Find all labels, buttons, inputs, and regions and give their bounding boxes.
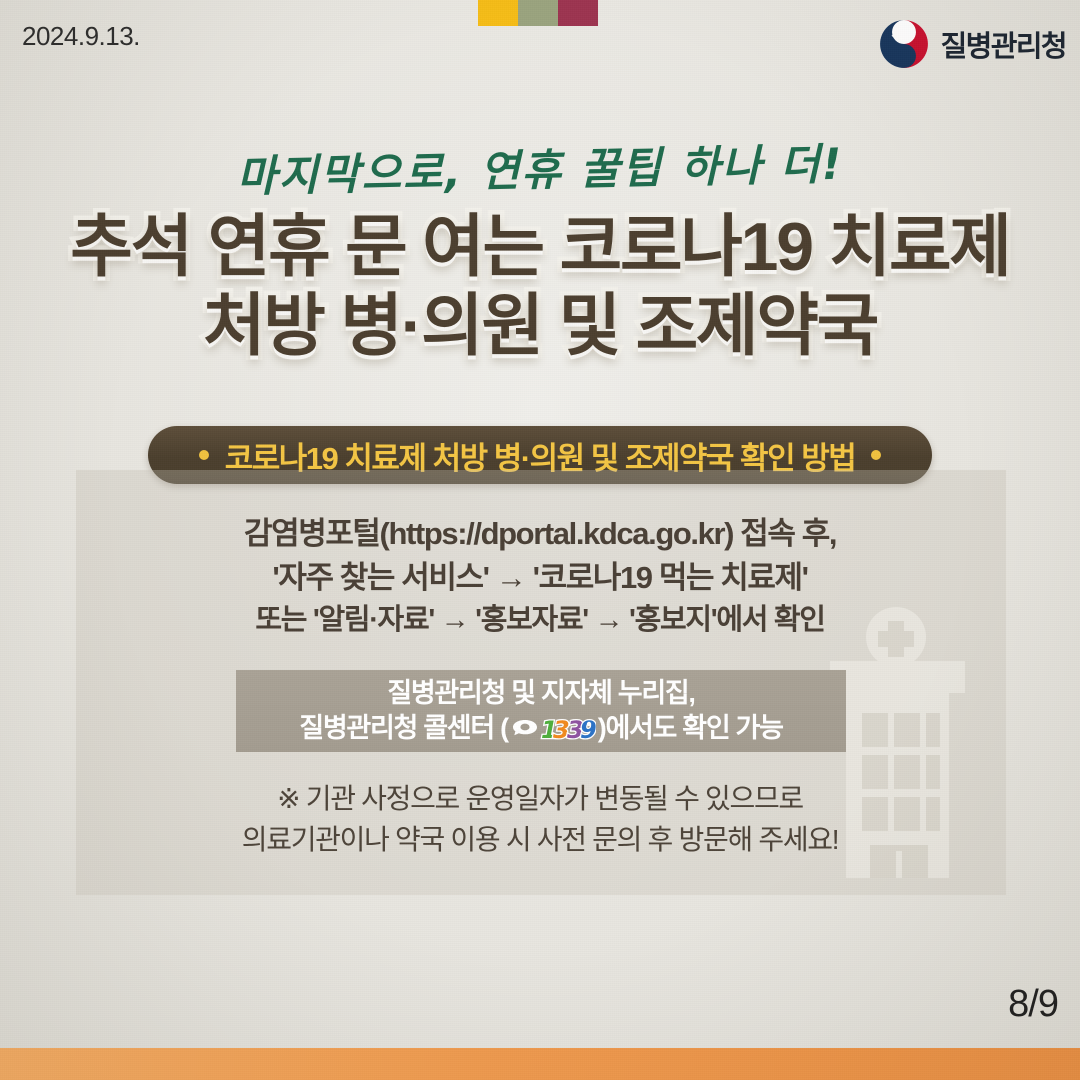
instructions-block: 감염병포털(https://dportal.kdca.go.kr) 접속 후, …	[0, 512, 1080, 641]
instruction-line-3: 또는 '알림·자료' → '홍보자료' → '홍보지'에서 확인	[0, 600, 1080, 641]
instruction-line-1: 감염병포털(https://dportal.kdca.go.kr) 접속 후,	[0, 512, 1080, 556]
telephone-icon	[510, 716, 540, 742]
footnote-line-2: 의료기관이나 약국 이용 시 사전 문의 후 방문해 주세요!	[0, 819, 1080, 860]
footnote-block: ※ 기관 사정으로 운영일자가 변동될 수 있으므로 의료기관이나 약국 이용 …	[0, 778, 1080, 861]
swatch-yellow	[478, 0, 518, 26]
callcenter-line-1: 질병관리청 및 지자체 누리집,	[387, 676, 694, 711]
footer-bar	[0, 1048, 1080, 1080]
svg-text:9: 9	[580, 716, 596, 743]
agency-name: 질병관리청	[941, 23, 1066, 65]
swatch-maroon	[558, 0, 598, 26]
page-indicator: 8/9	[1008, 983, 1058, 1026]
title-line-2: 처방 병·의원 및 조제약국	[0, 287, 1080, 366]
poster-canvas: 2024.9.13. 질병관리청 마지막으로, 연휴 꿀팁 하나 더! 추석 연…	[0, 0, 1080, 1080]
footnote-line-1: ※ 기관 사정으로 운영일자가 변동될 수 있으므로	[0, 778, 1080, 819]
page-title: 추석 연휴 문 여는 코로나19 치료제 처방 병·의원 및 조제약국	[0, 208, 1080, 366]
1339-number-icon: 1 3 3 9	[540, 715, 596, 743]
callcenter-suffix: )에서도 확인 가능	[598, 711, 783, 746]
publish-date: 2024.9.13.	[22, 21, 140, 52]
taegeuk-icon	[878, 18, 930, 70]
title-line-1: 추석 연휴 문 여는 코로나19 치료제	[0, 208, 1080, 287]
instruction-line-2: '자주 찾는 서비스' → '코로나19 먹는 치료제'	[0, 556, 1080, 600]
color-swatch-bar	[478, 0, 598, 26]
callcenter-line-2: 질병관리청 콜센터 ( 1 3 3 9 )에서도 확인 가능	[299, 711, 782, 746]
callcenter-prefix: 질병관리청 콜센터 (	[299, 711, 507, 746]
eyebrow-text: 마지막으로, 연휴 꿀팁 하나 더!	[0, 125, 1080, 210]
bullet-dot-icon-left	[199, 450, 209, 460]
swatch-green	[518, 0, 558, 26]
callcenter-1339-logo: 1 3 3 9	[510, 715, 596, 743]
callcenter-strip: 질병관리청 및 지자체 누리집, 질병관리청 콜센터 ( 1 3 3 9	[236, 670, 846, 752]
agency-logo: 질병관리청	[878, 18, 1066, 70]
bullet-dot-icon-right	[871, 450, 881, 460]
